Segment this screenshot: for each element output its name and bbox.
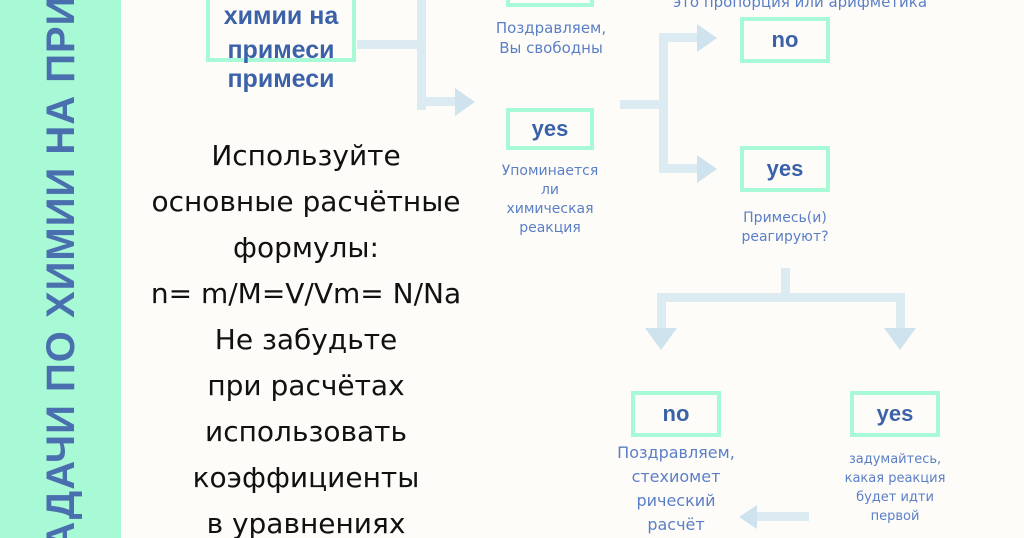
box-topic-overflow-line: примеси (206, 62, 356, 96)
sidebar-banner: ЗАДАЧИ ПО ХИМИИ НА ПРИМ (0, 0, 121, 538)
box-no-topright-label: no (772, 27, 799, 53)
box-no-topright[interactable]: no (740, 17, 830, 63)
connector-t-bar (657, 293, 905, 302)
box-topic-label: задача по химии на примеси (216, 0, 346, 67)
arrowhead-to-no-topright (697, 24, 717, 52)
caption-stoichiometric-calc: Поздравляем, стехиомет рический расчёт (598, 441, 754, 537)
connector-bottom-left-shaft (757, 512, 809, 521)
connector-trunk-vertical (417, 0, 426, 110)
arrowhead-to-yes-left (455, 88, 475, 116)
box-no-bottom[interactable]: no (631, 391, 721, 437)
body-paragraph: Используйте основные расчётные формулы: … (121, 133, 491, 538)
caption-impurities-react: Примесь(и) реагируют? (722, 209, 848, 247)
box-top-center-cutoff[interactable] (506, 0, 594, 7)
connector-topic-out (357, 40, 417, 49)
connector-second-fork-spine (659, 33, 668, 173)
caption-chemical-reaction-mentioned: Упоминается ли химическая реакция (487, 162, 613, 238)
box-no-bottom-label: no (663, 401, 690, 427)
arrowhead-to-yes-right (697, 155, 717, 183)
connector-t-right-leg (896, 293, 905, 333)
slide-canvas: ЗАДАЧИ ПО ХИМИИ НА ПРИМ Используйте осно… (0, 0, 1024, 538)
box-yes-left[interactable]: yes (506, 108, 594, 150)
caption-congrats-free: Поздравляем, Вы свободны (470, 18, 632, 58)
connector-fork2-upper (659, 33, 701, 42)
arrowhead-down-left (645, 328, 677, 350)
box-yes-left-label: yes (532, 116, 569, 142)
caption-think-which-reaction-first: задумайтесь, какая реакция будет идти пе… (828, 450, 962, 526)
arrowhead-down-right (884, 328, 916, 350)
caption-proportion-arithmetic: это пропорция или арифметика (620, 0, 980, 12)
box-topic-chemistry-impurities[interactable]: задача по химии на примеси (206, 0, 356, 62)
connector-t-left-leg (657, 293, 666, 333)
connector-fork-lower (417, 97, 459, 106)
box-yes-bottom-label: yes (877, 401, 914, 427)
box-yes-right-label: yes (767, 156, 804, 182)
box-yes-bottom[interactable]: yes (850, 391, 940, 437)
sidebar-vertical-title: ЗАДАЧИ ПО ХИМИИ НА ПРИМ (41, 0, 81, 538)
connector-fork2-lower (659, 164, 701, 173)
box-yes-right[interactable]: yes (740, 146, 830, 192)
